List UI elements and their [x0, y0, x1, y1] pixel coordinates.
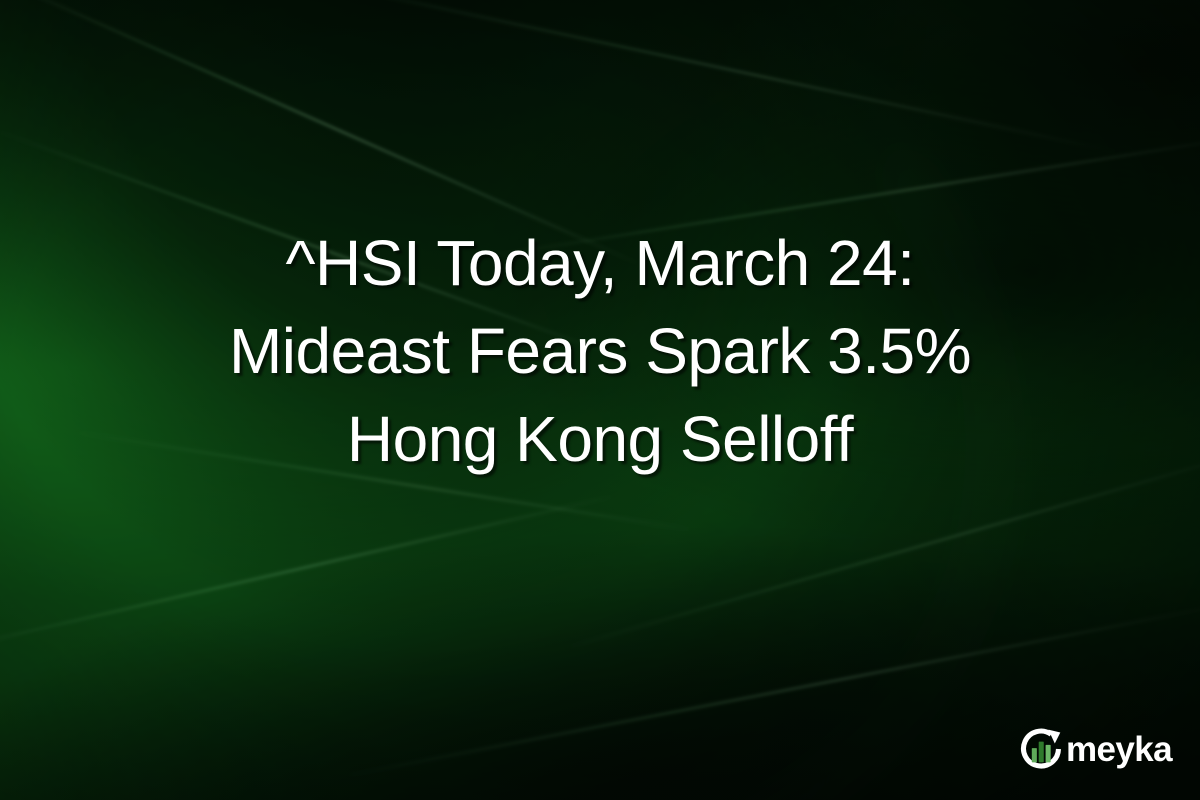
logo-bar-right [1046, 745, 1051, 762]
article-share-card: ^HSI Today, March 24: Mideast Fears Spar… [0, 0, 1200, 800]
light-streak-5 [0, 495, 615, 659]
brand-lockup: meyka [1018, 726, 1172, 772]
meyka-logo-icon [1018, 726, 1064, 772]
brand-name: meyka [1066, 732, 1172, 767]
light-streak-3 [297, 0, 1119, 153]
logo-bar-center [1039, 742, 1044, 763]
logo-bar-left [1032, 748, 1037, 762]
headline-title: ^HSI Today, March 24: Mideast Fears Spar… [0, 219, 1200, 483]
